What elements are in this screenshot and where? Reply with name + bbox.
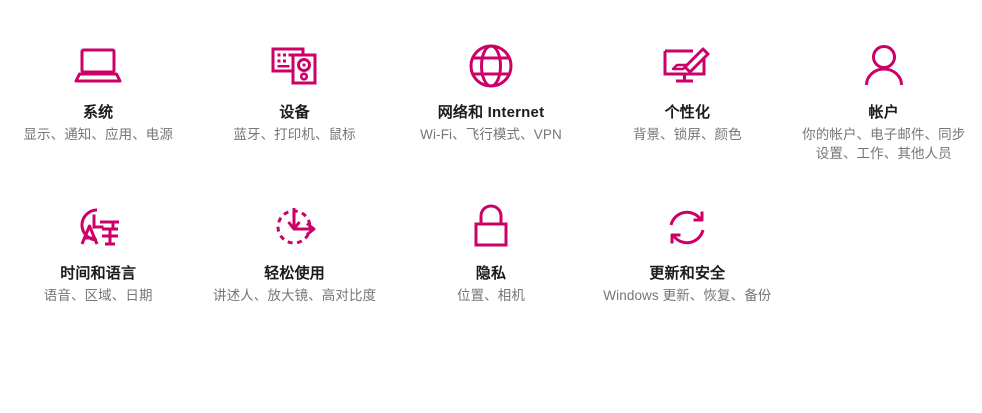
lock-icon	[463, 199, 519, 255]
globe-icon	[463, 38, 519, 94]
person-icon	[856, 38, 912, 94]
settings-tile-privacy[interactable]: 隐私 位置、相机	[393, 199, 589, 305]
tile-subtitle: 蓝牙、打印机、鼠标	[233, 125, 355, 144]
sync-arrows-icon	[659, 199, 715, 255]
settings-tile-personalization[interactable]: 个性化 背景、锁屏、颜色	[589, 38, 785, 163]
ease-of-access-icon	[267, 199, 323, 255]
laptop-icon	[70, 38, 126, 94]
tile-subtitle: Wi-Fi、飞行模式、VPN	[420, 125, 562, 144]
settings-tile-ease-of-access[interactable]: 轻松使用 讲述人、放大镜、高对比度	[196, 199, 392, 305]
monitor-paintbrush-icon	[659, 38, 715, 94]
tile-title: 设备	[279, 103, 309, 122]
tile-subtitle: 语音、区域、日期	[44, 286, 153, 305]
settings-tile-time-language[interactable]: 时间和语言 语音、区域、日期	[0, 199, 196, 305]
tile-subtitle: 讲述人、放大镜、高对比度	[213, 286, 376, 305]
keyboard-device-icon	[267, 38, 323, 94]
settings-grid: 系统 显示、通知、应用、电源	[0, 0, 982, 305]
tile-title: 更新和安全	[649, 264, 725, 283]
tile-title: 个性化	[665, 103, 711, 122]
settings-tile-devices[interactable]: 设备 蓝牙、打印机、鼠标	[196, 38, 392, 163]
tile-title: 系统	[83, 103, 113, 122]
settings-row-2: 时间和语言 语音、区域、日期 轻松使用 讲述人、放大镜、高对比度	[0, 199, 982, 305]
tile-subtitle: 你的帐户、电子邮件、同步设置、工作、其他人员	[796, 125, 972, 163]
settings-tile-update-security[interactable]: 更新和安全 Windows 更新、恢复、备份	[589, 199, 785, 305]
tile-title: 网络和 Internet	[438, 103, 545, 122]
tile-subtitle: 位置、相机	[457, 286, 525, 305]
clock-language-icon	[70, 199, 126, 255]
tile-subtitle: 背景、锁屏、颜色	[633, 125, 742, 144]
tile-title: 隐私	[476, 264, 506, 283]
settings-row-1: 系统 显示、通知、应用、电源	[0, 38, 982, 163]
settings-tile-system[interactable]: 系统 显示、通知、应用、电源	[0, 38, 196, 163]
tile-subtitle: 显示、通知、应用、电源	[23, 125, 173, 144]
tile-subtitle: Windows 更新、恢复、备份	[603, 286, 771, 305]
settings-tile-accounts[interactable]: 帐户 你的帐户、电子邮件、同步设置、工作、其他人员	[786, 38, 982, 163]
tile-title: 时间和语言	[60, 264, 136, 283]
tile-title: 轻松使用	[264, 264, 325, 283]
settings-tile-network[interactable]: 网络和 Internet Wi-Fi、飞行模式、VPN	[393, 38, 589, 163]
tile-title: 帐户	[869, 103, 899, 122]
